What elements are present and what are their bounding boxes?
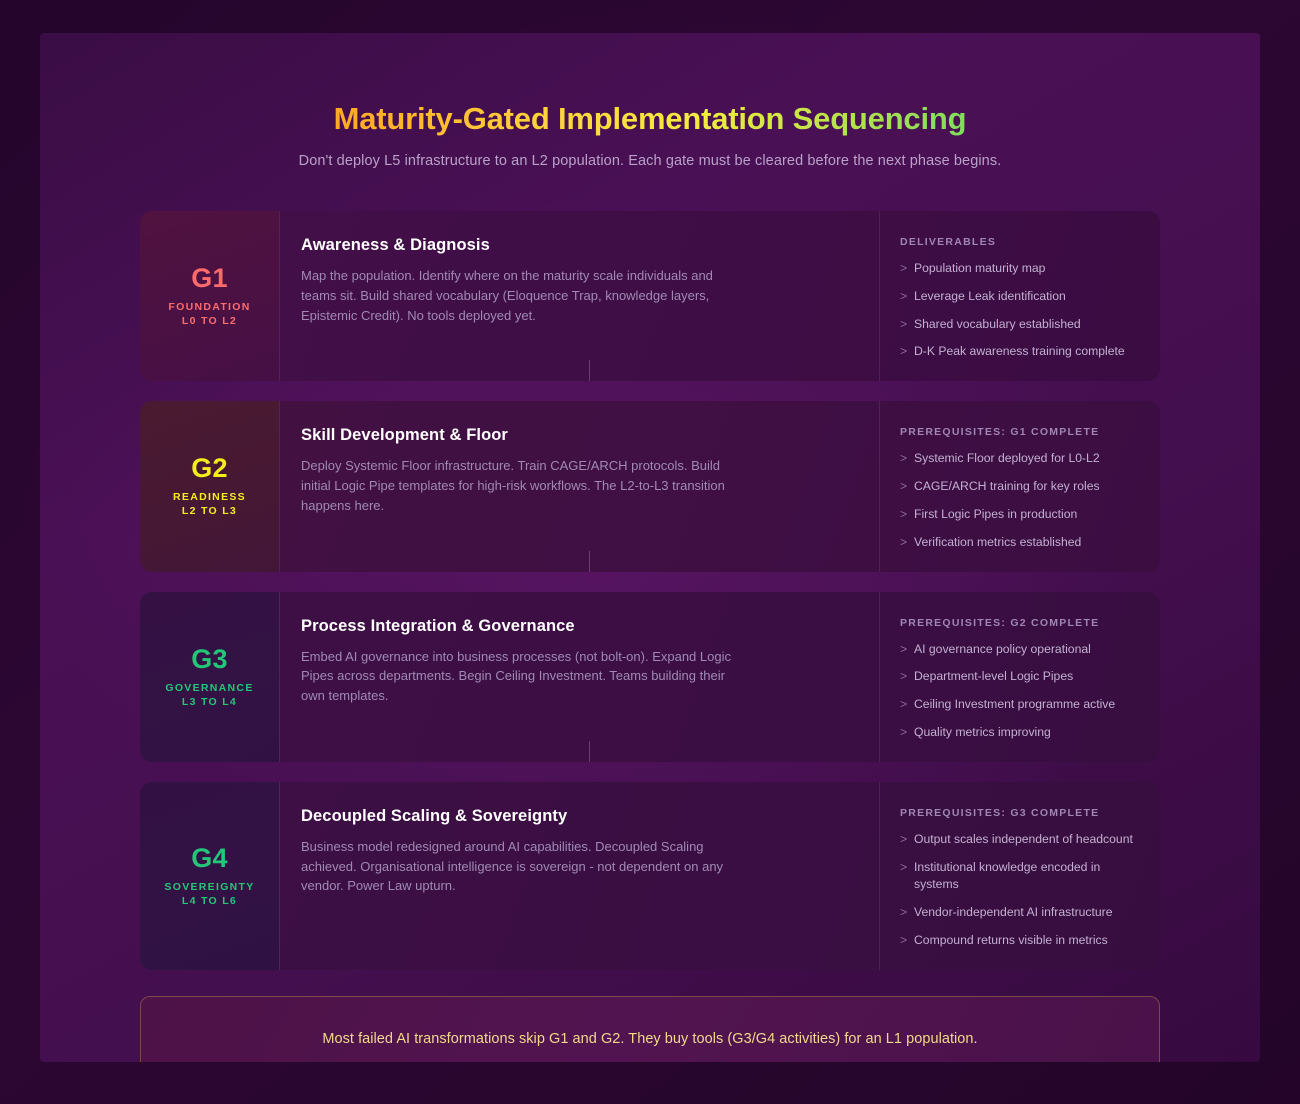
- requirement-item: >First Logic Pipes in production: [900, 506, 1136, 524]
- chevron-right-icon: >: [900, 343, 914, 361]
- gate-badge: G2READINESSL2 TO L3: [140, 401, 279, 571]
- gate-description-area: Decoupled Scaling & SovereigntyBusiness …: [279, 782, 879, 970]
- gate-card-wrapper: G2READINESSL2 TO L3Skill Development & F…: [140, 401, 1160, 571]
- gate-connector-line: [589, 741, 590, 762]
- gate-card-wrapper: G4SOVEREIGNTYL4 TO L6Decoupled Scaling &…: [140, 782, 1160, 970]
- gate-connector-line: [589, 360, 590, 381]
- gate-card-g1[interactable]: G1FOUNDATIONL0 TO L2Awareness & Diagnosi…: [140, 211, 1160, 381]
- requirement-item: >Systemic Floor deployed for L0-L2: [900, 450, 1136, 468]
- gate-badge: G1FOUNDATIONL0 TO L2: [140, 211, 279, 381]
- chevron-right-icon: >: [900, 506, 914, 524]
- gate-list: G1FOUNDATIONL0 TO L2Awareness & Diagnosi…: [140, 211, 1160, 970]
- gate-level-range: L0 TO L2: [182, 315, 237, 327]
- page-subtitle: Don't deploy L5 infrastructure to an L2 …: [140, 153, 1160, 169]
- chevron-right-icon: >: [900, 641, 914, 659]
- chevron-right-icon: >: [900, 450, 914, 468]
- gate-id: G4: [191, 845, 228, 872]
- gate-id: G3: [191, 646, 228, 673]
- gate-card-g2[interactable]: G2READINESSL2 TO L3Skill Development & F…: [140, 401, 1160, 571]
- chevron-right-icon: >: [900, 316, 914, 334]
- requirement-label: Verification metrics established: [914, 534, 1081, 552]
- gate-title: Process Integration & Governance: [301, 617, 845, 636]
- requirements-heading: PREREQUISITES: G3 COMPLETE: [900, 807, 1136, 819]
- gate-description-area: Awareness & DiagnosisMap the population.…: [279, 211, 879, 381]
- gate-description: Map the population. Identify where on th…: [301, 266, 733, 325]
- requirement-item: >D-K Peak awareness training complete: [900, 343, 1136, 361]
- gate-badge: G4SOVEREIGNTYL4 TO L6: [140, 782, 279, 970]
- callout-box: Most failed AI transformations skip G1 a…: [140, 996, 1160, 1062]
- requirement-label: Systemic Floor deployed for L0-L2: [914, 450, 1100, 468]
- gate-level-range: L4 TO L6: [182, 895, 237, 907]
- gate-title: Awareness & Diagnosis: [301, 236, 845, 255]
- gate-card-g4[interactable]: G4SOVEREIGNTYL4 TO L6Decoupled Scaling &…: [140, 782, 1160, 970]
- requirements-heading: PREREQUISITES: G1 COMPLETE: [900, 426, 1136, 438]
- gate-stage-name: GOVERNANCE: [165, 682, 253, 694]
- chevron-right-icon: >: [900, 288, 914, 306]
- requirement-item: >Quality metrics improving: [900, 724, 1136, 742]
- content-panel: Maturity-Gated Implementation Sequencing…: [40, 33, 1260, 1062]
- chevron-right-icon: >: [900, 831, 914, 849]
- requirement-item: >Ceiling Investment programme active: [900, 696, 1136, 714]
- requirements-list: >Systemic Floor deployed for L0-L2>CAGE/…: [900, 450, 1136, 551]
- gate-body: Decoupled Scaling & SovereigntyBusiness …: [279, 782, 1160, 970]
- chevron-right-icon: >: [900, 260, 914, 278]
- requirement-item: >Population maturity map: [900, 260, 1136, 278]
- page-header: Maturity-Gated Implementation Sequencing…: [140, 33, 1160, 169]
- gate-body: Process Integration & GovernanceEmbed AI…: [279, 592, 1160, 762]
- chevron-right-icon: >: [900, 724, 914, 742]
- requirements-heading: PREREQUISITES: G2 COMPLETE: [900, 617, 1136, 629]
- gate-badge: G3GOVERNANCEL3 TO L4: [140, 592, 279, 762]
- requirement-label: Shared vocabulary established: [914, 316, 1081, 334]
- gate-description: Business model redesigned around AI capa…: [301, 837, 733, 896]
- requirement-label: Quality metrics improving: [914, 724, 1051, 742]
- requirement-item: >AI governance policy operational: [900, 641, 1136, 659]
- requirement-item: >Verification metrics established: [900, 534, 1136, 552]
- gate-card-wrapper: G1FOUNDATIONL0 TO L2Awareness & Diagnosi…: [140, 211, 1160, 381]
- gate-id: G1: [191, 265, 228, 292]
- chevron-right-icon: >: [900, 696, 914, 714]
- gate-description: Embed AI governance into business proces…: [301, 647, 733, 706]
- gate-description-area: Skill Development & FloorDeploy Systemic…: [279, 401, 879, 571]
- requirement-label: Leverage Leak identification: [914, 288, 1066, 306]
- chevron-right-icon: >: [900, 534, 914, 552]
- gate-stage-name: FOUNDATION: [168, 301, 250, 313]
- requirements-list: >Population maturity map>Leverage Leak i…: [900, 260, 1136, 361]
- requirements-list: >AI governance policy operational>Depart…: [900, 641, 1136, 742]
- requirement-label: Institutional knowledge encoded in syste…: [914, 859, 1136, 895]
- gate-level-range: L3 TO L4: [182, 696, 237, 708]
- gate-description: Deploy Systemic Floor infrastructure. Tr…: [301, 456, 733, 515]
- requirement-item: >Shared vocabulary established: [900, 316, 1136, 334]
- requirement-label: First Logic Pipes in production: [914, 506, 1077, 524]
- chevron-right-icon: >: [900, 859, 914, 895]
- chevron-right-icon: >: [900, 904, 914, 922]
- requirement-item: >CAGE/ARCH training for key roles: [900, 478, 1136, 496]
- chevron-right-icon: >: [900, 668, 914, 686]
- gate-body: Skill Development & FloorDeploy Systemic…: [279, 401, 1160, 571]
- gate-level-range: L2 TO L3: [182, 505, 237, 517]
- requirement-label: Ceiling Investment programme active: [914, 696, 1115, 714]
- gate-title: Skill Development & Floor: [301, 426, 845, 445]
- gate-body: Awareness & DiagnosisMap the population.…: [279, 211, 1160, 381]
- gate-description-area: Process Integration & GovernanceEmbed AI…: [279, 592, 879, 762]
- callout-primary-text: Most failed AI transformations skip G1 a…: [181, 1031, 1119, 1047]
- requirements-list: >Output scales independent of headcount>…: [900, 831, 1136, 950]
- requirement-label: Output scales independent of headcount: [914, 831, 1133, 849]
- gate-id: G2: [191, 455, 228, 482]
- requirement-item: >Output scales independent of headcount: [900, 831, 1136, 849]
- page-title: Maturity-Gated Implementation Sequencing: [334, 101, 967, 137]
- gate-card-g3[interactable]: G3GOVERNANCEL3 TO L4Process Integration …: [140, 592, 1160, 762]
- requirement-label: D-K Peak awareness training complete: [914, 343, 1125, 361]
- chevron-right-icon: >: [900, 478, 914, 496]
- gate-title: Decoupled Scaling & Sovereignty: [301, 807, 845, 826]
- chevron-right-icon: >: [900, 932, 914, 950]
- gate-stage-name: SOVEREIGNTY: [164, 881, 254, 893]
- gate-requirements-panel: PREREQUISITES: G2 COMPLETE>AI governance…: [879, 592, 1160, 762]
- gate-requirements-panel: PREREQUISITES: G3 COMPLETE>Output scales…: [879, 782, 1160, 970]
- requirement-label: Department-level Logic Pipes: [914, 668, 1073, 686]
- requirement-item: >Vendor-independent AI infrastructure: [900, 904, 1136, 922]
- gate-requirements-panel: DELIVERABLES>Population maturity map>Lev…: [879, 211, 1160, 381]
- gate-card-wrapper: G3GOVERNANCEL3 TO L4Process Integration …: [140, 592, 1160, 762]
- gate-stage-name: READINESS: [173, 491, 246, 503]
- page-stage: Maturity-Gated Implementation Sequencing…: [0, 0, 1300, 1104]
- requirement-item: >Department-level Logic Pipes: [900, 668, 1136, 686]
- requirement-label: Vendor-independent AI infrastructure: [914, 904, 1113, 922]
- requirement-label: Compound returns visible in metrics: [914, 932, 1108, 950]
- requirement-label: AI governance policy operational: [914, 641, 1091, 659]
- requirement-label: Population maturity map: [914, 260, 1045, 278]
- requirement-item: >Compound returns visible in metrics: [900, 932, 1136, 950]
- callout-emphasis-text: You cannot build the penthouse before th…: [181, 1061, 1119, 1062]
- gate-connector-line: [589, 551, 590, 572]
- requirements-heading: DELIVERABLES: [900, 236, 1136, 248]
- requirement-item: >Institutional knowledge encoded in syst…: [900, 859, 1136, 895]
- requirement-label: CAGE/ARCH training for key roles: [914, 478, 1100, 496]
- requirement-item: >Leverage Leak identification: [900, 288, 1136, 306]
- gate-requirements-panel: PREREQUISITES: G1 COMPLETE>Systemic Floo…: [879, 401, 1160, 571]
